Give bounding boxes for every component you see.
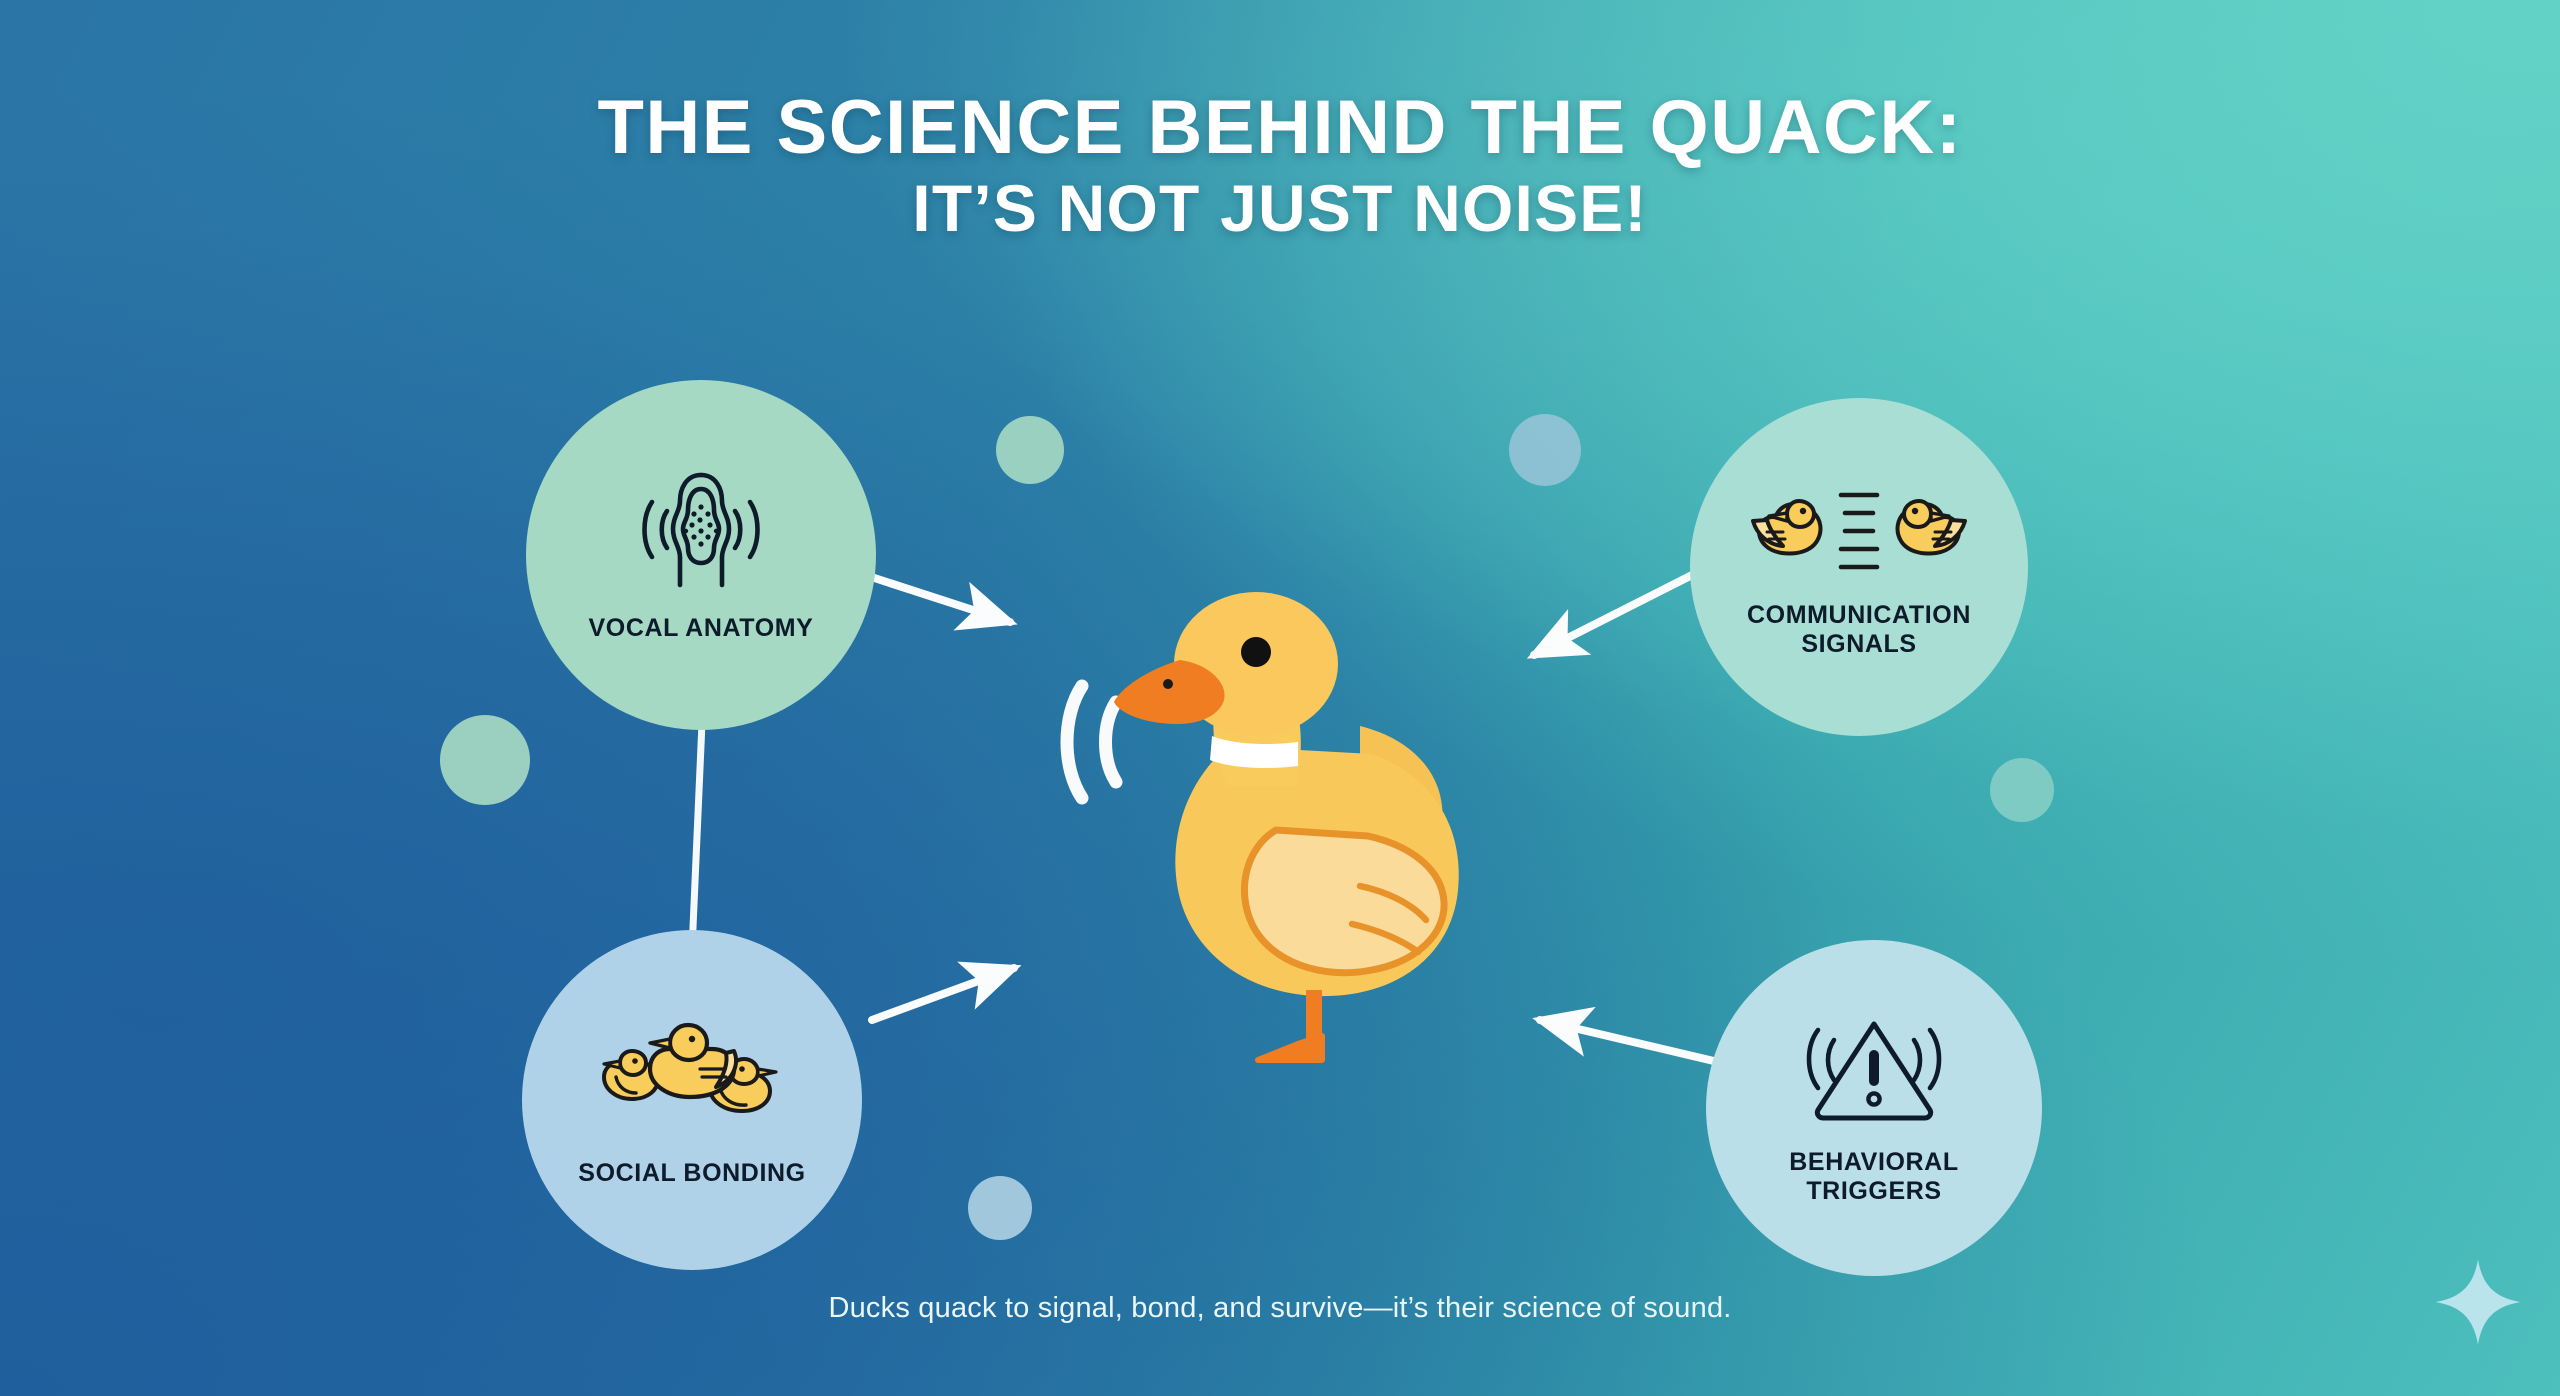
connector-line-vocal-to-social [692,700,703,950]
warning-triangle-alert-icon [1788,1010,1960,1130]
decor-bubble [440,715,530,805]
infographic-canvas: THE SCIENCE BEHIND THE QUACK: IT’S NOT J… [0,0,2560,1396]
node-social-bonding[interactable]: SOCIAL BONDING [522,930,862,1270]
node-communication-signals[interactable]: COMMUNICATION SIGNALS [1690,398,2028,736]
decor-bubble [1509,414,1581,486]
node-label-vocal-anatomy: VOCAL ANATOMY [589,614,814,644]
title-line-2: IT’S NOT JUST NOISE! [0,173,2560,244]
title-line-1: THE SCIENCE BEHIND THE QUACK: [0,88,2560,167]
footer-caption: Ducks quack to signal, bond, and survive… [0,1292,2560,1325]
node-label-social-bonding: SOCIAL BONDING [578,1159,805,1189]
connector-arrow-communication-to-duck [1534,570,1702,655]
two-ducks-talking-icon [1737,475,1981,585]
connector-arrow-social-to-duck [872,968,1014,1020]
duck-illustration [1060,590,1540,1080]
connector-arrow-behavioral-to-duck [1540,1020,1718,1062]
decor-bubble [968,1176,1032,1240]
connector-arrow-vocal-to-duck [862,574,1010,622]
decor-bubble [996,416,1064,484]
page-title: THE SCIENCE BEHIND THE QUACK: IT’S NOT J… [0,88,2560,244]
three-ducklings-icon [592,1011,792,1131]
node-behavioral-triggers[interactable]: BEHAVIORAL TRIGGERS [1706,940,2042,1276]
decor-bubble [1990,758,2054,822]
node-vocal-anatomy[interactable]: VOCAL ANATOMY [526,380,876,730]
node-label-communication-signals: COMMUNICATION SIGNALS [1747,601,1971,660]
quack-sound-wave-arcs [1067,686,1116,798]
syrinx-vocal-organ-icon [626,467,776,592]
node-label-behavioral-triggers: BEHAVIORAL TRIGGERS [1789,1148,1958,1207]
